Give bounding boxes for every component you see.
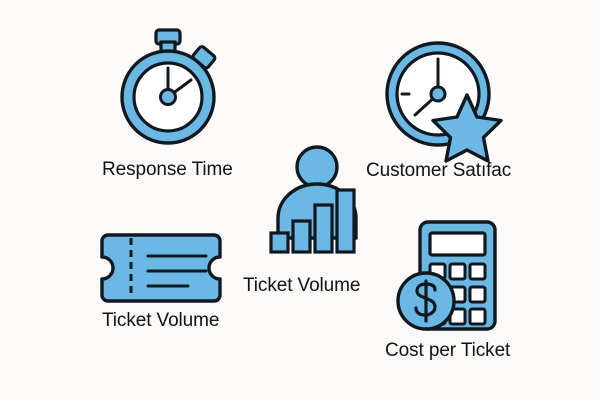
metric-label-customer-satisfaction: Customer Satıfac	[366, 160, 511, 182]
metric-label-cost-per-ticket: Cost per Ticket	[385, 340, 510, 362]
clock-star-icon	[383, 38, 505, 158]
infographic-canvas: Response Time Customer Sa	[0, 0, 600, 400]
dollar-coin-icon	[398, 273, 454, 329]
ticket-icon	[100, 233, 222, 303]
metric-label-ticket-volume-ticket: Ticket Volume	[102, 310, 219, 332]
calculator-dollar-icon	[396, 219, 512, 334]
metric-label-ticket-volume-person: Ticket Volume	[243, 275, 360, 297]
metric-label-response-time: Response Time	[102, 159, 233, 181]
stopwatch-icon	[112, 28, 224, 146]
person-bar-chart-icon	[268, 145, 366, 263]
